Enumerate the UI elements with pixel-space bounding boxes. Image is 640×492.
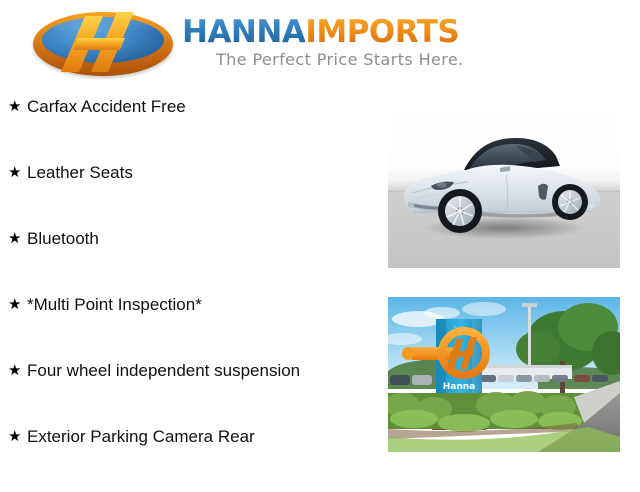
star-bullet-icon: ★ [8, 426, 27, 448]
feature-label: Four wheel independent suspension [27, 360, 300, 382]
list-item: ★ Bluetooth [0, 228, 386, 294]
star-bullet-icon: ★ [8, 96, 27, 118]
svg-text:Hanna: Hanna [443, 382, 476, 392]
brand-wordmark: HANNAIMPORTS [182, 14, 459, 50]
brand-wordmark-hanna: HANNA [182, 14, 305, 50]
dealership-photo: 240 Hanna Imports [388, 297, 620, 452]
dealership-sign-illustration: 240 Hanna Imports [388, 297, 620, 452]
hanna-oval-h-logo-icon [33, 8, 173, 80]
list-item: ★ Carfax Accident Free [0, 96, 386, 162]
star-bullet-icon: ★ [8, 294, 27, 316]
porsche-boxster-illustration [388, 94, 620, 268]
list-item: ★ Four wheel independent suspension [0, 360, 386, 426]
vehicle-photo [388, 94, 620, 268]
star-bullet-icon: ★ [8, 228, 27, 250]
feature-label: Carfax Accident Free [27, 96, 186, 118]
brand-header: HANNAIMPORTS The Perfect Price Starts He… [0, 0, 640, 92]
feature-label: *Multi Point Inspection* [27, 294, 202, 316]
feature-label: Exterior Parking Camera Rear [27, 426, 255, 448]
star-bullet-icon: ★ [8, 162, 27, 184]
vehicle-features-list: ★ Carfax Accident Free ★ Leather Seats ★… [0, 96, 386, 492]
list-item: ★ *Multi Point Inspection* [0, 294, 386, 360]
list-item: ★ Leather Seats [0, 162, 386, 228]
list-item: ★ Exterior Parking Camera Rear [0, 426, 386, 492]
brand-tagline: The Perfect Price Starts Here. [216, 50, 464, 69]
feature-label: Bluetooth [27, 228, 99, 250]
feature-label: Leather Seats [27, 162, 133, 184]
star-bullet-icon: ★ [8, 360, 27, 382]
brand-wordmark-imports: IMPORTS [305, 14, 459, 50]
logo-h-monogram-icon [33, 8, 173, 80]
